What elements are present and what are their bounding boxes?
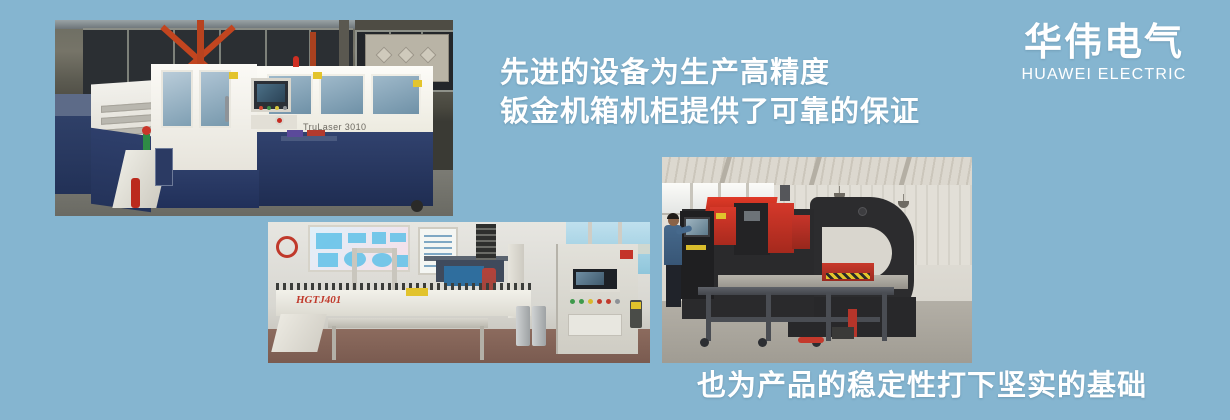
door-handle (225, 96, 229, 122)
warning-sticker-2 (313, 72, 322, 79)
caster-2 (758, 338, 767, 347)
machine-base-right (257, 132, 433, 206)
machine-model-label: TruLaser 3010 (303, 122, 366, 132)
warning-sticker-1 (229, 72, 238, 79)
frame-bolt (858, 207, 867, 216)
table-leg-right (480, 326, 484, 360)
cabinet-access-door (568, 314, 622, 336)
subline-line-1: 也为产品的稳定性打下坚实的基础 (697, 370, 1147, 402)
power-cable (798, 337, 824, 343)
hose-coil (276, 236, 298, 258)
operator-panel (251, 78, 291, 112)
console-keypad (686, 245, 706, 250)
hazard-stripe (826, 273, 870, 279)
frame-crossbar (352, 248, 397, 253)
cabin-window-left (161, 70, 193, 128)
green-indicator (143, 134, 150, 150)
headline-line-2: 钣金机箱机柜提供了可靠的保证 (500, 93, 920, 132)
exhaust-stack (780, 185, 790, 201)
photo-hgtj-cutter: HGTJ401 (268, 222, 650, 363)
control-box (155, 148, 173, 186)
logo-name-cn: 华伟电气 (1013, 22, 1195, 64)
fire-extinguisher (131, 178, 140, 208)
yellow-warning-plate (406, 288, 428, 296)
worker-hair (667, 213, 679, 219)
table-leg-4 (882, 293, 887, 341)
headline-text: 先进的设备为生产高精度 钣金机箱机柜提供了可靠的保证 (500, 54, 920, 132)
emergency-stop-button (275, 116, 284, 125)
pendant-controller (630, 300, 642, 328)
button-row (251, 115, 297, 129)
red-panel-right (792, 215, 810, 249)
warning-sticker-3 (413, 80, 422, 87)
photo-turret-punch (662, 157, 972, 363)
photo-laser-cutter: TruLaser 3010 (55, 20, 453, 216)
signal-lamp (293, 56, 299, 67)
floor-mat (832, 327, 854, 339)
work-table (328, 318, 488, 328)
subline-text: 也为产品的稳定性打下坚实的基础 (697, 369, 1147, 403)
company-logo: 华伟电气 HUAWEI ELECTRIC (1013, 22, 1195, 85)
side-cabinet-top (55, 94, 95, 118)
tool-box-purple (287, 130, 303, 137)
side-cabinet (55, 116, 95, 194)
machine-model-label: HGTJ401 (296, 294, 341, 306)
cabinet-button-row (570, 298, 622, 305)
caster-1 (700, 338, 709, 347)
safety-sign (620, 250, 633, 259)
gas-cylinder-2 (532, 306, 546, 346)
red-panel-mid (768, 203, 794, 253)
promo-banner: TruLaser 3010 (0, 0, 1230, 420)
machine-display (744, 211, 760, 221)
table-leg-left (332, 326, 336, 360)
bed-skirt (271, 314, 326, 352)
red-indicator (142, 126, 151, 135)
machine-wheel (411, 200, 423, 212)
cabinet-screen (570, 266, 620, 292)
gas-cylinder-1 (516, 306, 530, 346)
logo-name-en: HUAWEI ELECTRIC (1013, 65, 1195, 85)
worker-legs (666, 263, 681, 307)
headline-line-1: 先进的设备为生产高精度 (500, 54, 920, 93)
roller-table-top (698, 287, 894, 295)
yellow-label (716, 213, 726, 219)
